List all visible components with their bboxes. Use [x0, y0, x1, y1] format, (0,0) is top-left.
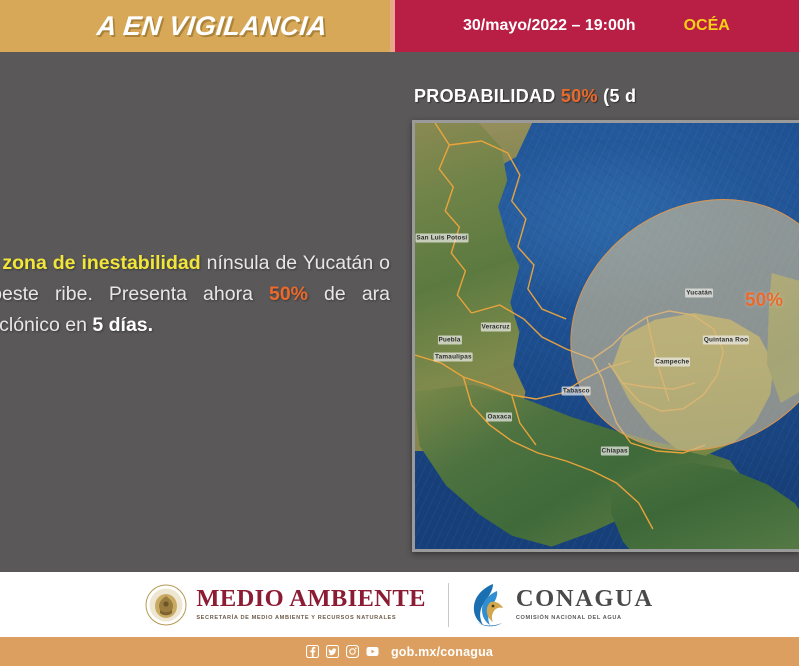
conagua-title: CONAGUA — [516, 587, 654, 612]
conagua-wordmark: CONAGUA COMISIÓN NACIONAL DEL AGUA — [516, 587, 654, 621]
map-label-campeche: Campeche — [654, 357, 690, 366]
desc-line3-a: ribe. Presenta ahora — [55, 283, 269, 305]
map-label-tabasco: Tabasco — [562, 387, 591, 396]
probability-heading-suffix: (5 d — [598, 86, 637, 106]
header-band-divider — [390, 0, 395, 52]
map-label-yucatan: Yucatán — [685, 289, 713, 298]
map-label-oaxaca: Oaxaca — [486, 412, 512, 421]
desc-percent: 50% — [269, 283, 308, 305]
probability-heading: PROBABILIDAD 50% (5 d — [414, 86, 799, 107]
footer-url[interactable]: gob.mx/conagua — [391, 645, 493, 659]
conagua-logo: CONAGUA COMISIÓN NACIONAL DEL AGUA — [471, 582, 654, 628]
mexican-eagle-seal-icon — [145, 584, 187, 626]
desc-days: 5 días. — [92, 314, 153, 336]
conagua-wave-eagle-icon — [471, 582, 507, 628]
page-title: A EN VIGILANCIA — [95, 11, 328, 42]
map-probability-label: 50% — [745, 290, 783, 312]
semarnat-wordmark: MEDIO AMBIENTE SECRETARÍA DE MEDIO AMBIE… — [196, 587, 426, 621]
instagram-icon[interactable] — [346, 645, 359, 658]
probability-heading-prefix: PROBABILIDAD — [414, 86, 561, 106]
footer-logo-divider — [448, 583, 449, 627]
probability-heading-value: 50% — [561, 86, 598, 106]
timestamp: 30/mayo/2022 – 19:00h — [463, 17, 636, 35]
twitter-icon[interactable] — [326, 645, 339, 658]
map-label-san-luis-potosi: San Luis Potosí — [415, 234, 468, 243]
conagua-subtitle: COMISIÓN NACIONAL DEL AGUA — [516, 616, 654, 622]
header-date-band: 30/mayo/2022 – 19:00h OCÉA — [395, 0, 799, 52]
map-label-puebla: Puebla — [437, 336, 461, 345]
footer-social-bar: gob.mx/conagua — [0, 637, 799, 666]
semarnat-logo: MEDIO AMBIENTE SECRETARÍA DE MEDIO AMBIE… — [145, 584, 426, 626]
forecast-map[interactable]: 50% San Luis Potosí Tamaulipas Qro. Hida… — [412, 120, 799, 552]
map-label-tamaulipas: Tamaulipas — [434, 353, 473, 362]
semarnat-title: MEDIO AMBIENTE — [196, 587, 426, 612]
desc-highlight-instability: zona de inestabilidad — [2, 252, 200, 274]
map-label-chiapas: Chiapas — [601, 447, 629, 456]
header-title-band: A EN VIGILANCIA — [0, 0, 395, 52]
forecast-description: sarrolle una zona de inestabilidad nínsu… — [0, 248, 390, 341]
ocean-label: OCÉA — [684, 17, 730, 35]
map-canvas[interactable]: 50% San Luis Potosí Tamaulipas Qro. Hida… — [415, 123, 799, 549]
footer-logo-bar: MEDIO AMBIENTE SECRETARÍA DE MEDIO AMBIE… — [0, 572, 799, 639]
youtube-icon[interactable] — [366, 645, 379, 658]
content-stage: PROBABILIDAD 50% (5 d sarrolle una zona … — [0, 52, 799, 572]
map-label-veracruz: Veracruz — [481, 323, 511, 332]
semarnat-subtitle: SECRETARÍA DE MEDIO AMBIENTE Y RECURSOS … — [196, 616, 426, 622]
map-label-quintana-roo: Quintana Roo — [703, 336, 749, 345]
desc-line3-b: de — [308, 283, 346, 305]
facebook-icon[interactable] — [306, 645, 319, 658]
header-bar: A EN VIGILANCIA 30/mayo/2022 – 19:00h OC… — [0, 0, 799, 52]
